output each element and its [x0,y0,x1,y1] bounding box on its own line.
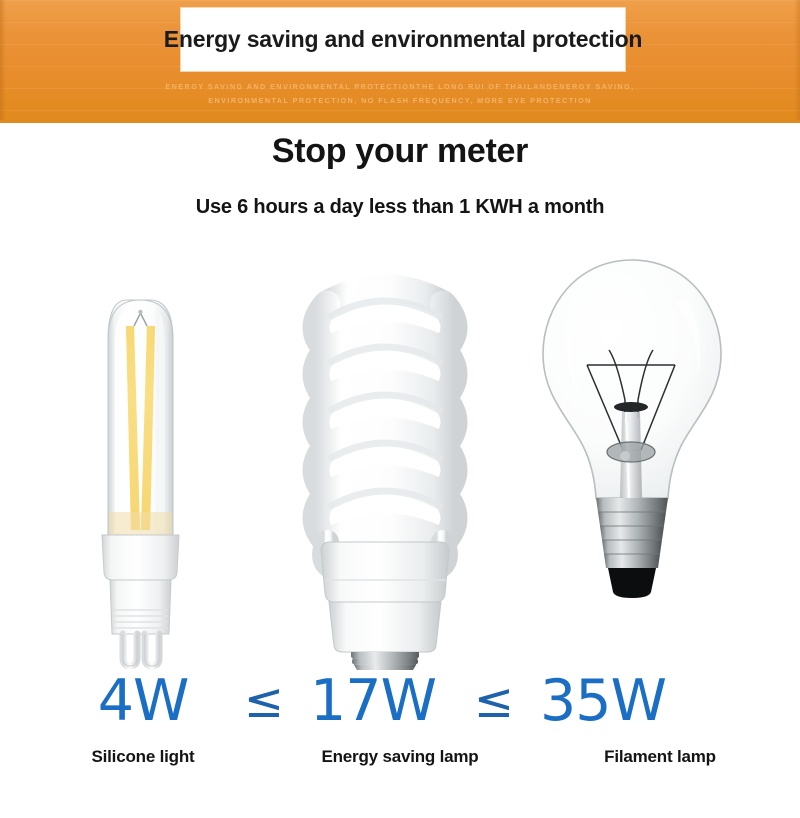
label-silicone-light: Silicone light [28,745,258,769]
wattage-energy-saving-lamp: 17W [288,668,458,734]
banner-subtitle: ENERGY SAVING AND ENVIRONMENTAL PROTECTI… [0,80,800,107]
label-filament-lamp: Filament lamp [545,745,775,769]
bulb-image-energy-saving-lamp [285,250,485,670]
wattage-silicone-light: 4W [58,668,228,734]
incandescent-filament-bulb-icon [525,250,740,670]
banner-title-box: Energy saving and environmental protecti… [181,8,625,71]
banner-title: Energy saving and environmental protecti… [164,26,643,53]
banner-subtitle-line-2: ENVIRONMENTAL PROTECTION, NO FLASH FREQU… [0,94,800,108]
banner-subtitle-line-1: ENERGY SAVING AND ENVIRONMENTAL PROTECTI… [0,80,800,94]
wattage-filament-lamp: 35W [518,668,688,734]
wattage-row: 4W ≤ 17W ≤ 35W [0,668,800,736]
bulb-image-filament-lamp [525,250,740,670]
cfl-spiral-bulb-icon [285,250,485,670]
bulb-image-silicone-light [55,250,245,670]
bulb-comparison-images [0,250,800,670]
page-headline: Stop your meter [0,132,800,171]
page-subheadline: Use 6 hours a day less than 1 KWH a mont… [0,196,800,219]
bulb-labels-row: Silicone light Energy saving lamp Filame… [0,745,800,779]
promo-banner: Energy saving and environmental protecti… [0,0,800,123]
g9-silicone-led-bulb-icon [55,250,245,670]
banner-bottom-rule [0,120,800,123]
label-energy-saving-lamp: Energy saving lamp [285,745,515,769]
